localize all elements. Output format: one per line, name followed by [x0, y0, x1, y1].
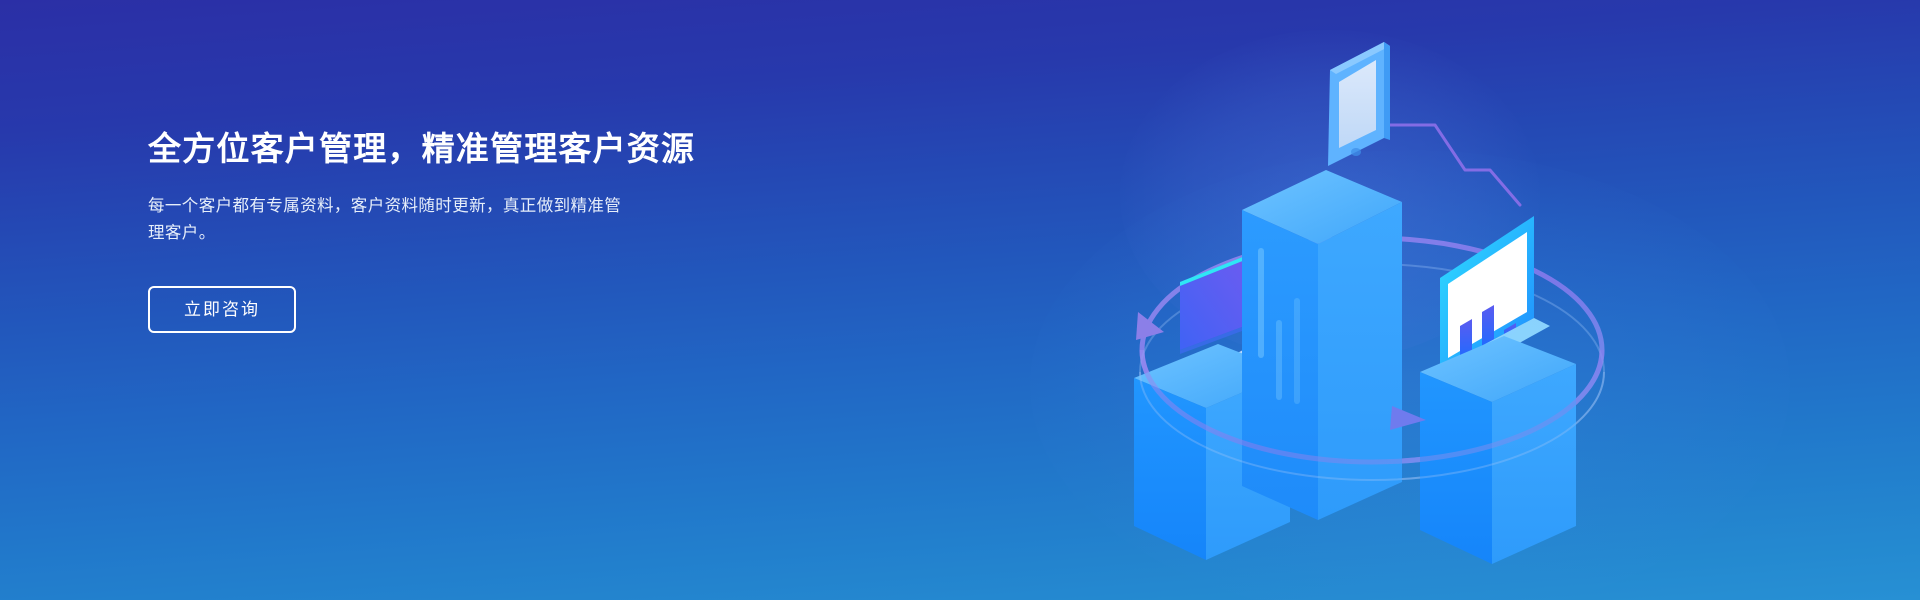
hero-illustration	[1090, 20, 1650, 580]
tablet	[1326, 42, 1390, 166]
page-title: 全方位客户管理，精准管理客户资源	[148, 128, 788, 171]
hero-content: 全方位客户管理，精准管理客户资源 每一个客户都有专属资料，客户资料随时更新，真正…	[148, 128, 788, 333]
connector-polyline	[1390, 125, 1520, 205]
hero-banner: 全方位客户管理，精准管理客户资源 每一个客户都有专属资料，客户资料随时更新，真正…	[0, 0, 1920, 600]
consult-now-button[interactable]: 立即咨询	[148, 286, 296, 333]
pedestal-right	[1420, 216, 1576, 564]
hero-subtitle: 每一个客户都有专属资料，客户资料随时更新，真正做到精准管理客户。	[148, 193, 628, 246]
